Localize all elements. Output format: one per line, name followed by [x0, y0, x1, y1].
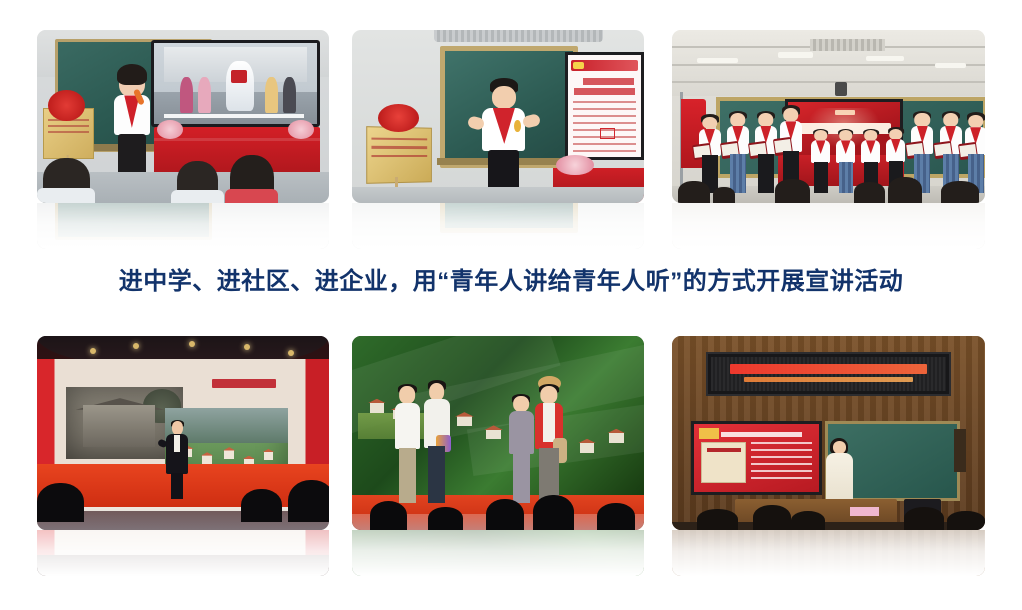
- choir-group: [672, 30, 985, 203]
- photo-image: [352, 30, 644, 203]
- audience-silhouette: [904, 507, 945, 530]
- photo-reflection: [352, 530, 644, 576]
- screen-content: [694, 424, 819, 492]
- audience-silhouette: [241, 489, 282, 522]
- photo-image: [37, 336, 329, 530]
- window-blind: [434, 30, 603, 42]
- slide-text-lines: [751, 442, 811, 475]
- reflection-mirror: [352, 203, 644, 249]
- choir-student: [725, 113, 750, 193]
- speaker-legs: [171, 473, 183, 499]
- photo-classroom-female-speaker[interactable]: [37, 30, 329, 203]
- led-caption-gaoshan: [212, 379, 276, 388]
- tv-caption-bar: [164, 114, 304, 118]
- tv-person: [283, 77, 296, 112]
- photo-classroom-male-speaker[interactable]: [352, 30, 644, 203]
- plaque-text-lines: [372, 137, 427, 172]
- photo-reflection: [352, 203, 644, 249]
- audience-silhouette: [713, 187, 735, 203]
- photo-reflection: [37, 530, 329, 576]
- speaker-hair: [117, 64, 147, 85]
- slide-content: [568, 55, 641, 156]
- audience-silhouette: [854, 182, 885, 203]
- photo-reflection: [672, 530, 985, 576]
- presentation-screen: [691, 421, 822, 495]
- party-emblem-banner: [571, 60, 638, 71]
- audience-silhouette: [791, 511, 825, 530]
- audience-silhouette: [753, 505, 791, 530]
- flower-arrangement: [157, 120, 183, 139]
- photo-reflection: [37, 203, 329, 249]
- photo-village-house: [224, 450, 234, 458]
- reflection-mirror: [37, 203, 329, 249]
- photo-stage-led-village-talk[interactable]: [37, 336, 329, 530]
- audience-silhouette: [947, 511, 985, 530]
- teacher-speaker: [825, 441, 853, 507]
- photo-reflection: [672, 203, 985, 249]
- photo-image: [672, 30, 985, 203]
- slide-body-text: [573, 101, 636, 150]
- village-house: [580, 443, 595, 453]
- classroom-floor: [352, 187, 644, 203]
- audience-silhouette: [288, 480, 329, 523]
- audience-silhouette: [678, 181, 709, 203]
- audience-silhouette: [941, 181, 979, 203]
- photo-image: [37, 30, 329, 203]
- led-banner: [706, 352, 950, 397]
- tv-person: [198, 77, 211, 112]
- audience-silhouette: [428, 507, 463, 530]
- photo-village-house: [202, 455, 212, 463]
- village-house: [370, 403, 385, 413]
- choir-pupil: [835, 130, 857, 192]
- gold-plaque: [366, 126, 432, 183]
- photo-student-choir-recital[interactable]: [672, 30, 985, 203]
- photo-row-bottom: [0, 336, 1022, 571]
- led-banner-content: [711, 357, 945, 392]
- speaker-shirt: [174, 435, 180, 452]
- slide-title-line-1: [583, 78, 634, 85]
- audience-silhouette: [597, 503, 635, 530]
- tv-medical-worker: [226, 61, 254, 111]
- photo-stone-hut: [83, 405, 155, 447]
- speaker-head: [492, 86, 516, 109]
- slide-header: [721, 432, 801, 437]
- red-ribbon-flower: [48, 90, 85, 121]
- audience-silhouette: [888, 177, 922, 203]
- speaker-head: [172, 421, 183, 434]
- school-badge: [514, 120, 521, 132]
- photo-image: [672, 336, 985, 530]
- slide-book-image: [701, 442, 746, 483]
- tv-person: [265, 77, 278, 112]
- performer-young-man: [393, 386, 422, 502]
- teacher-head: [833, 441, 847, 454]
- banner-title: [730, 364, 927, 374]
- photo-stage-skit-mountain-backdrop[interactable]: [352, 336, 644, 530]
- banner-subtitle: [744, 377, 913, 383]
- reflection-mirror: [672, 530, 985, 576]
- photo-image: [352, 336, 644, 530]
- pupil-silhouette: [177, 161, 218, 203]
- pupil-silhouette: [230, 155, 274, 203]
- village-house: [609, 433, 624, 443]
- choir-pupil: [810, 130, 832, 192]
- reflection-mirror: [37, 530, 329, 576]
- plaque-easel: [367, 110, 431, 197]
- section-caption: 进中学、进社区、进企业，用“青年人讲给青年人听”的方式开展宣讲活动: [0, 261, 1022, 296]
- tv-person: [180, 77, 193, 112]
- audience-silhouette: [697, 509, 738, 530]
- performer-woman-suit: [507, 396, 536, 503]
- slide-highlight-box: [600, 128, 615, 139]
- wall-tv: [151, 40, 320, 127]
- audience-silhouette: [37, 483, 84, 522]
- photo-village-house: [264, 452, 274, 460]
- plaque-text-lines: [48, 119, 90, 148]
- performer-woman-red-vest: [533, 386, 565, 502]
- projection-screen: [565, 52, 644, 159]
- name-card: [850, 507, 878, 517]
- reflection-mirror: [352, 530, 644, 576]
- village-house: [457, 416, 472, 426]
- party-flag-graphic: [699, 428, 719, 439]
- photo-row-top: [0, 30, 1022, 240]
- audience-silhouette: [486, 499, 524, 530]
- audience-silhouette: [775, 179, 809, 203]
- photo-lecture-hall-teacher[interactable]: [672, 336, 985, 530]
- audience-silhouette: [533, 495, 574, 530]
- male-speaker: [480, 78, 527, 199]
- tv-content: [154, 43, 317, 124]
- performer-young-man: [422, 383, 451, 503]
- wall-speaker: [954, 429, 967, 472]
- stage-speaker: [165, 421, 188, 499]
- pupil-silhouette: [43, 158, 90, 203]
- slide-title-line-2: [574, 88, 635, 95]
- audience-silhouette: [370, 501, 408, 530]
- village-house: [486, 429, 501, 439]
- reflection-mirror: [672, 203, 985, 249]
